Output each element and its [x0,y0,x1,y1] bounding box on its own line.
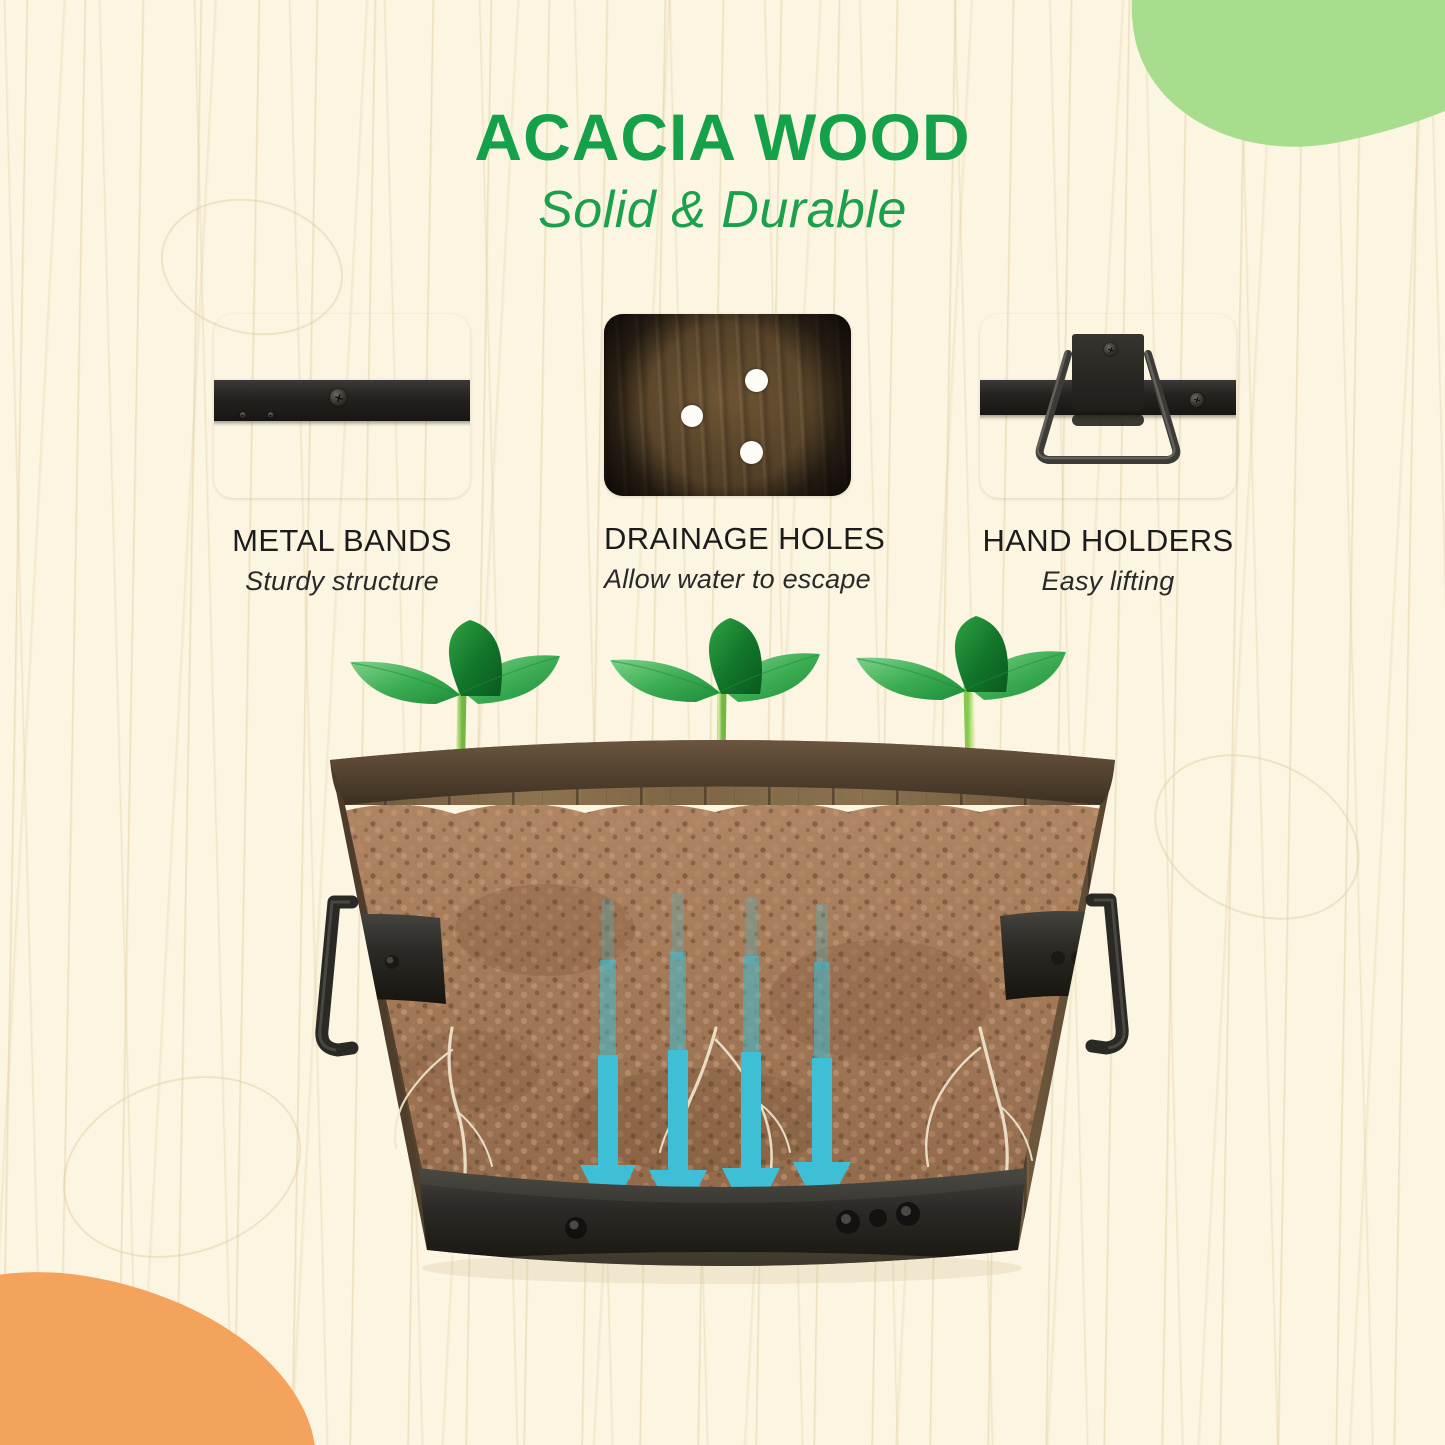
feature-label: DRAINAGE HOLES [604,522,851,556]
ground-shadow [422,1252,1022,1284]
leaf [955,616,1008,692]
feature-caption: Easy lifting [980,567,1236,597]
feature-caption: Sturdy structure [214,567,470,597]
right-hand-holder [1092,900,1124,1048]
infographic-page: ACACIA WOOD Solid & Durable METAL BANDS … [0,0,1445,1445]
leaf [449,620,502,696]
feature-metal-bands: METAL BANDS Sturdy structure [214,314,470,597]
barrel-planter-cutaway-svg [0,600,1445,1360]
planter-illustration [0,600,1445,1360]
page-subtitle: Solid & Durable [0,183,1445,238]
metal-bands-thumbnail [214,314,470,498]
feature-drainage-holes: DRAINAGE HOLES Allow water to escape [604,314,851,595]
feature-hand-holders: HAND HOLDERS Easy lifting [980,314,1236,597]
leaf [709,618,762,694]
drainage-holes-thumbnail [604,314,851,496]
vignette [604,314,851,496]
page-title: ACACIA WOOD [0,104,1445,171]
feature-caption: Allow water to escape [604,565,851,595]
leaf [856,658,966,700]
hand-holders-thumbnail [980,314,1236,498]
feature-label: HAND HOLDERS [980,524,1236,558]
heading-block: ACACIA WOOD Solid & Durable [0,104,1445,238]
feature-label: METAL BANDS [214,524,470,558]
leaf [610,660,720,702]
leaf [350,662,460,704]
drainage-hole [681,405,703,427]
drainage-hole [745,369,768,392]
hand-holder-handle-icon [980,314,1236,498]
left-hand-holder [320,902,352,1050]
